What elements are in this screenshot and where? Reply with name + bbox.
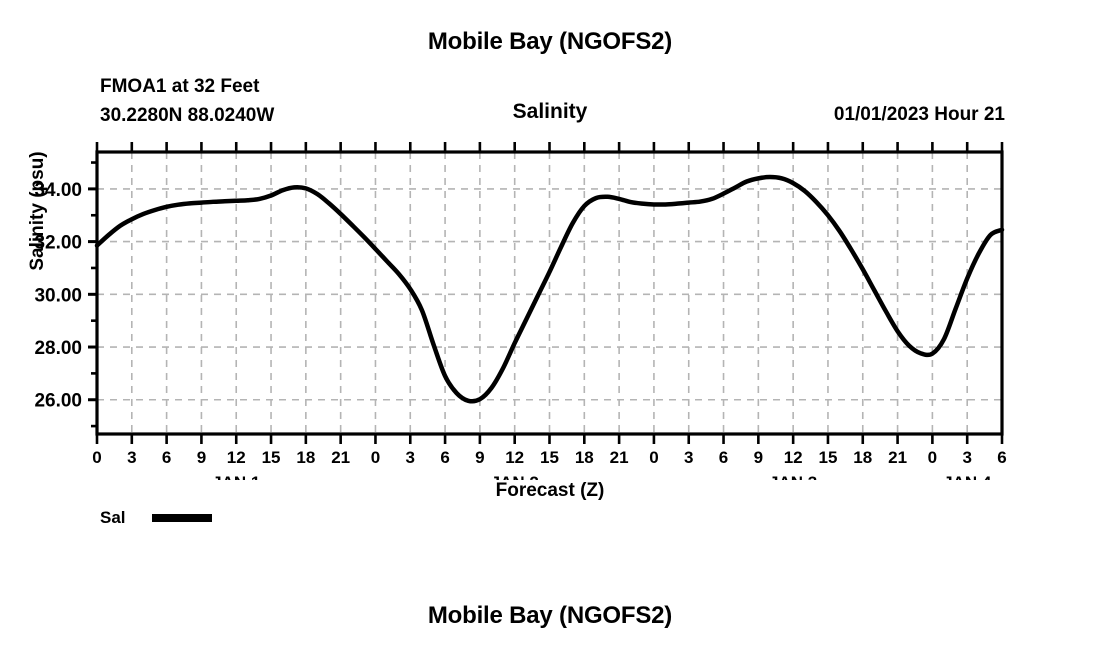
x-axis-tick-label: 15	[819, 448, 838, 467]
x-axis-tick-label: 6	[719, 448, 728, 467]
x-axis-tick-label: 9	[197, 448, 206, 467]
x-axis-tick-label: 3	[962, 448, 971, 467]
y-axis-tick-label: 30.00	[34, 285, 82, 306]
x-axis-tick-label: 18	[575, 448, 594, 467]
x-axis-day-label: JAN 2	[491, 473, 539, 480]
x-axis-tick-label: 12	[227, 448, 246, 467]
x-axis-tick-label: 9	[475, 448, 484, 467]
y-axis-tick-label: 32.00	[34, 233, 82, 254]
y-axis-tick-label: 34.00	[34, 180, 82, 201]
x-axis-day-label: JAN 4	[943, 473, 992, 480]
legend-label-sal: Sal	[100, 508, 126, 528]
x-axis-tick-label: 21	[610, 448, 629, 467]
x-axis-tick-label: 21	[888, 448, 907, 467]
x-axis-tick-label: 3	[406, 448, 415, 467]
salinity-line-plot: 26.0028.0030.0032.0034.00036912151821036…	[0, 10, 1100, 480]
x-axis-label: Forecast (Z)	[0, 480, 1100, 502]
x-axis-day-label: JAN 3	[769, 473, 817, 480]
x-axis-tick-label: 15	[262, 448, 281, 467]
y-axis-tick-label: 28.00	[34, 338, 82, 359]
x-axis-tick-label: 6	[162, 448, 171, 467]
x-axis-day-label: JAN 1	[212, 473, 260, 480]
x-axis-tick-label: 0	[371, 448, 380, 467]
legend-swatch-sal	[152, 514, 212, 522]
x-axis-tick-label: 0	[649, 448, 658, 467]
x-axis-tick-label: 18	[296, 448, 315, 467]
y-axis-tick-label: 26.00	[34, 391, 82, 412]
x-axis-tick-label: 15	[540, 448, 559, 467]
x-axis-tick-label: 3	[684, 448, 693, 467]
x-axis-tick-label: 6	[440, 448, 449, 467]
x-axis-tick-label: 12	[784, 448, 803, 467]
x-axis-tick-label: 12	[505, 448, 524, 467]
x-axis-tick-label: 9	[754, 448, 763, 467]
x-axis-tick-label: 0	[928, 448, 937, 467]
chart-legend: Sal	[100, 508, 212, 528]
chart-title-bottom: Mobile Bay (NGOFS2)	[0, 602, 1100, 630]
chart-figure: Mobile Bay (NGOFS2) FMOA1 at 32 Feet 30.…	[0, 0, 1100, 650]
x-axis-tick-label: 0	[92, 448, 101, 467]
x-axis-tick-label: 21	[331, 448, 350, 467]
x-axis-tick-label: 3	[127, 448, 136, 467]
x-axis-tick-label: 6	[997, 448, 1006, 467]
x-axis-tick-label: 18	[853, 448, 872, 467]
